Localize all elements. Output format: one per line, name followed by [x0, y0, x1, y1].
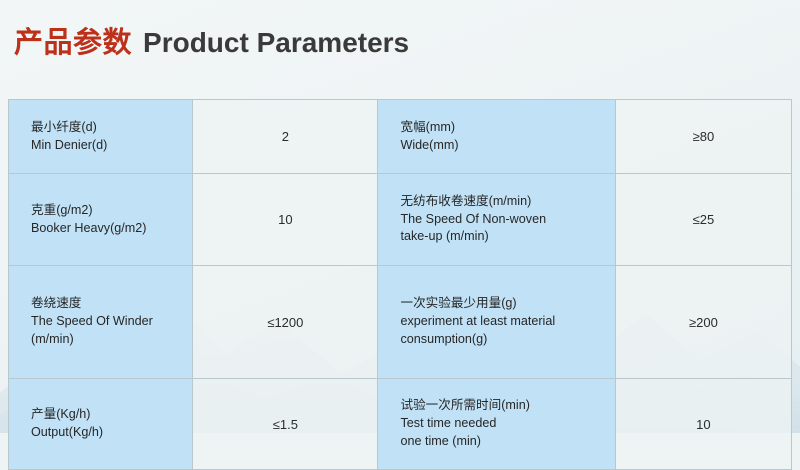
parameter-value-cell: ≤25	[615, 174, 791, 266]
label-english: Wide(mm)	[400, 137, 606, 155]
parameter-value-cell: ≥200	[615, 266, 791, 379]
label-english-line2: take-up (m/min)	[400, 228, 606, 246]
parameter-value-cell: ≥80	[615, 100, 791, 174]
parameter-label-cell: 最小纤度(d) Min Denier(d)	[9, 100, 193, 174]
page-title-chinese: 产品参数	[14, 29, 132, 58]
label-english: The Speed Of Non-woven	[400, 211, 606, 229]
table-row: 产量(Kg/h) Output(Kg/h) ≤1.5 试验一次所需时间(min)…	[9, 379, 792, 470]
parameter-value-cell: ≤1.5	[193, 379, 378, 470]
label-chinese: 一次实验最少用量(g)	[400, 295, 606, 313]
parameter-label-cell: 一次实验最少用量(g) experiment at least material…	[378, 266, 615, 379]
parameter-value-cell: ≤1200	[193, 266, 378, 379]
label-english-line2: (m/min)	[31, 331, 184, 349]
parameter-label-cell: 试验一次所需时间(min) Test time needed one time …	[378, 379, 615, 470]
label-english: Booker Heavy(g/m2)	[31, 220, 184, 238]
page-header: 产品参数 Product Parameters	[0, 0, 800, 86]
label-chinese: 克重(g/m2)	[31, 202, 184, 220]
label-english-line2: one time (min)	[400, 433, 606, 451]
label-chinese: 无纺布收卷速度(m/min)	[400, 193, 606, 211]
label-english: Test time needed	[400, 415, 606, 433]
label-english-line2: consumption(g)	[400, 331, 606, 349]
label-english: Min Denier(d)	[31, 137, 184, 155]
label-chinese: 卷绕速度	[31, 295, 184, 313]
parameter-value-cell: 2	[193, 100, 378, 174]
parameter-value-cell: 10	[193, 174, 378, 266]
label-chinese: 产量(Kg/h)	[31, 406, 184, 424]
parameter-label-cell: 克重(g/m2) Booker Heavy(g/m2)	[9, 174, 193, 266]
label-chinese: 最小纤度(d)	[31, 119, 184, 137]
parameter-value-cell: 10	[615, 379, 791, 470]
label-chinese: 试验一次所需时间(min)	[400, 397, 606, 415]
table-row: 卷绕速度 The Speed Of Winder (m/min) ≤1200 一…	[9, 266, 792, 379]
label-english: experiment at least material	[400, 313, 606, 331]
table-row: 克重(g/m2) Booker Heavy(g/m2) 10 无纺布收卷速度(m…	[9, 174, 792, 266]
parameter-label-cell: 卷绕速度 The Speed Of Winder (m/min)	[9, 266, 193, 379]
table-row: 最小纤度(d) Min Denier(d) 2 宽幅(mm) Wide(mm) …	[9, 100, 792, 174]
parameter-label-cell: 产量(Kg/h) Output(Kg/h)	[9, 379, 193, 470]
label-english: The Speed Of Winder	[31, 313, 184, 331]
parameter-label-cell: 无纺布收卷速度(m/min) The Speed Of Non-woven ta…	[378, 174, 615, 266]
parameter-label-cell: 宽幅(mm) Wide(mm)	[378, 100, 615, 174]
product-parameters-table: 最小纤度(d) Min Denier(d) 2 宽幅(mm) Wide(mm) …	[8, 99, 792, 470]
page-title-english: Product Parameters	[143, 29, 409, 57]
label-chinese: 宽幅(mm)	[400, 119, 606, 137]
